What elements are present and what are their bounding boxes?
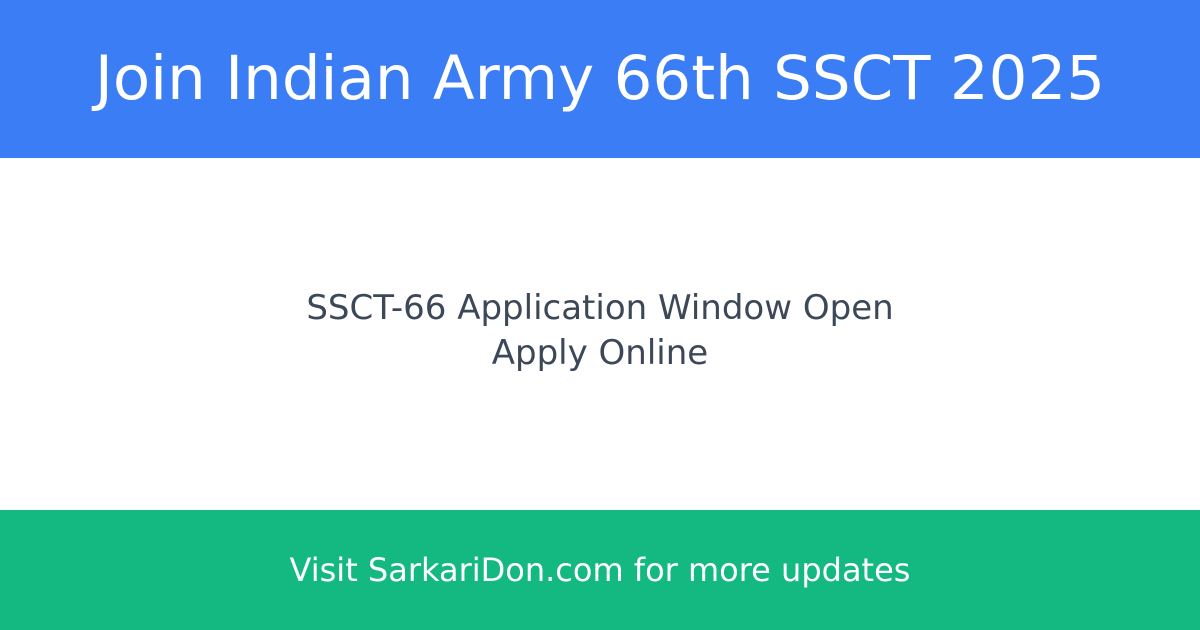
page-title: Join Indian Army 66th SSCT 2025 — [95, 45, 1105, 113]
og-banner-card: Join Indian Army 66th SSCT 2025 SSCT-66 … — [0, 0, 1200, 630]
footer-band: Visit SarkariDon.com for more updates — [0, 510, 1200, 630]
body-line-1: SSCT-66 Application Window Open — [306, 286, 893, 331]
body-line-2: Apply Online — [306, 331, 893, 376]
body-text-block: SSCT-66 Application Window Open Apply On… — [306, 286, 893, 376]
footer-credit-text: Visit SarkariDon.com for more updates — [290, 551, 911, 589]
header-band: Join Indian Army 66th SSCT 2025 — [0, 0, 1200, 158]
body-area: SSCT-66 Application Window Open Apply On… — [0, 158, 1200, 510]
